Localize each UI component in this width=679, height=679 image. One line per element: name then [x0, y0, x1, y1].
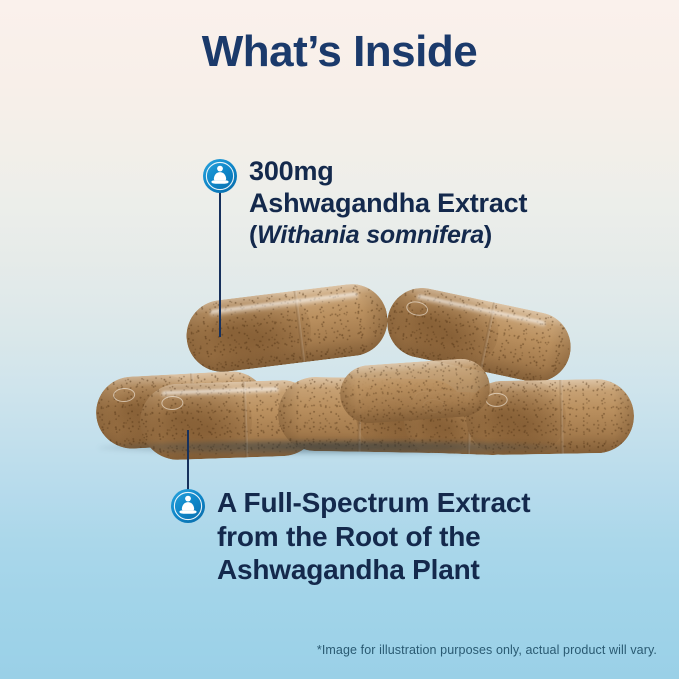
capsule-top-left — [182, 280, 391, 376]
capsule-pile-shadow — [98, 441, 568, 455]
callout-2-row: A Full-Spectrum Extract from the Root of… — [170, 488, 530, 587]
callout-2-text: A Full-Spectrum Extract from the Root of… — [217, 486, 530, 587]
callout-1-line-1: 300mg — [249, 156, 334, 186]
callout-1-text: 300mg Ashwagandha Extract (Withania somn… — [249, 156, 527, 251]
meditating-person-icon — [170, 488, 206, 524]
capsule-speckle — [338, 357, 492, 425]
callout-2-line-2: from the Root of the — [217, 521, 481, 552]
callout-1: 300mg Ashwagandha Extract (Withania somn… — [202, 158, 527, 251]
callout-1-line-2: Ashwagandha Extract — [249, 188, 527, 218]
callout-1-row: 300mg Ashwagandha Extract (Withania somn… — [202, 158, 527, 251]
capsule-rear — [338, 357, 492, 425]
footer-disclaimer: *Image for illustration purposes only, a… — [317, 643, 657, 657]
capsule-speckle — [182, 280, 391, 376]
callout-2-line-3: Ashwagandha Plant — [217, 554, 480, 585]
page-title: What’s Inside — [0, 28, 679, 76]
callout-1-line-3: (Withania somnifera) — [249, 221, 492, 249]
infographic-canvas: What’s Inside — [0, 0, 679, 679]
callout-2: A Full-Spectrum Extract from the Root of… — [170, 488, 530, 587]
meditating-person-icon — [202, 158, 238, 194]
callout-2-line-1: A Full-Spectrum Extract — [217, 487, 530, 518]
